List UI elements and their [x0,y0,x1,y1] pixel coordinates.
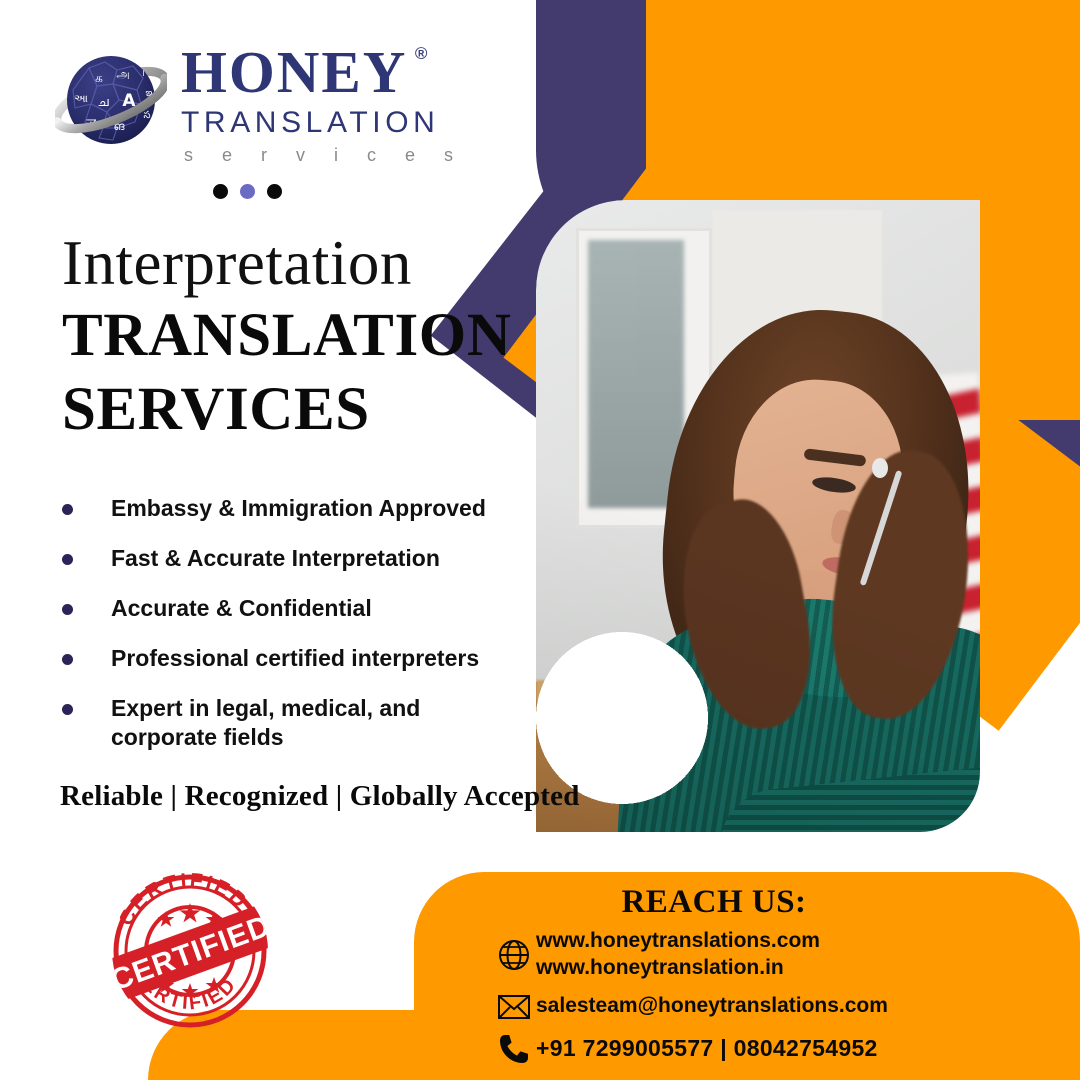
feature-text: Embassy & Immigration Approved [111,494,486,524]
headline-bold-line-2: SERVICES [62,377,512,443]
logo-brand-name: HONEY ® [181,44,407,100]
logo-dots-group [55,184,475,199]
headline-block: Interpretation TRANSLATION SERVICES [62,232,512,443]
list-item: Embassy & Immigration Approved [58,494,538,524]
brand-logo: க அ । આ ച A ఇ స ア ങ [55,38,475,199]
website-primary[interactable]: www.honeytranslations.com [536,928,820,955]
svg-text:க: க [95,71,103,85]
certified-stamp-icon: CERTIFIED CERTIFIED CERTIFIED [104,865,276,1037]
list-item: Expert in legal, medical, and corporate … [58,694,538,754]
svg-text:స: స [143,110,150,121]
globe-icon [492,938,536,972]
logo-line-services: s e r v i c e s [181,145,465,166]
globe-languages-icon: க அ । આ ച A ఇ స ア ങ [55,42,167,164]
logo-brand-text: HONEY [181,39,407,105]
reach-us-heading: REACH US: [414,884,1014,921]
svg-text:।: । [141,69,144,79]
logo-wordmark: HONEY ® TRANSLATION s e r v i c e s [181,38,465,166]
bullet-dot-icon [62,554,73,565]
bullet-dot-icon [62,604,73,615]
hero-photo [536,200,980,832]
dot-black-right [267,184,282,199]
phone-numbers[interactable]: +91 7299005577 | 08042754952 [536,1034,878,1063]
list-item: Accurate & Confidential [58,594,538,624]
dot-purple-mid [240,184,255,199]
feature-text: Fast & Accurate Interpretation [111,544,440,574]
website-secondary[interactable]: www.honeytranslation.in [536,955,820,982]
logo-line-translation: TRANSLATION [181,106,465,140]
poster-canvas: க அ । આ ച A ఇ స ア ങ [0,0,1080,1080]
headline-bold-line-1: TRANSLATION [62,303,512,369]
feature-text: Accurate & Confidential [111,594,372,624]
headline-script-line: Interpretation [62,232,512,295]
website-lines: www.honeytranslations.com www.honeytrans… [536,928,820,982]
envelope-icon [492,993,536,1021]
dot-black-left [213,184,228,199]
list-item: Professional certified interpreters [58,644,538,674]
hero-photo-inner [536,200,980,832]
svg-text:ച: ച [97,95,109,110]
list-item: Fast & Accurate Interpretation [58,544,538,574]
bullet-dot-icon [62,654,73,665]
bullet-dot-icon [62,504,73,515]
email-address[interactable]: salesteam@honeytranslations.com [536,993,888,1020]
tagline: Reliable | Recognized | Globally Accepte… [60,780,580,813]
feature-list: Embassy & Immigration Approved Fast & Ac… [58,494,538,773]
phone-icon [492,1032,536,1066]
contact-list: www.honeytranslations.com www.honeytrans… [492,928,1072,1077]
svg-text:அ: அ [116,67,129,81]
photo-vignette [536,200,980,832]
contact-row-email[interactable]: salesteam@honeytranslations.com [492,993,1072,1021]
contact-row-website[interactable]: www.honeytranslations.com www.honeytrans… [492,928,1072,982]
feature-text: Professional certified interpreters [111,644,479,674]
logo-row: க அ । આ ച A ఇ స ア ങ [55,38,475,166]
registered-trademark-icon: ® [415,46,430,62]
contact-row-phone[interactable]: +91 7299005577 | 08042754952 [492,1032,1072,1066]
svg-text:આ: આ [74,92,88,105]
bullet-dot-icon [62,704,73,715]
feature-text: Expert in legal, medical, and corporate … [111,694,471,754]
